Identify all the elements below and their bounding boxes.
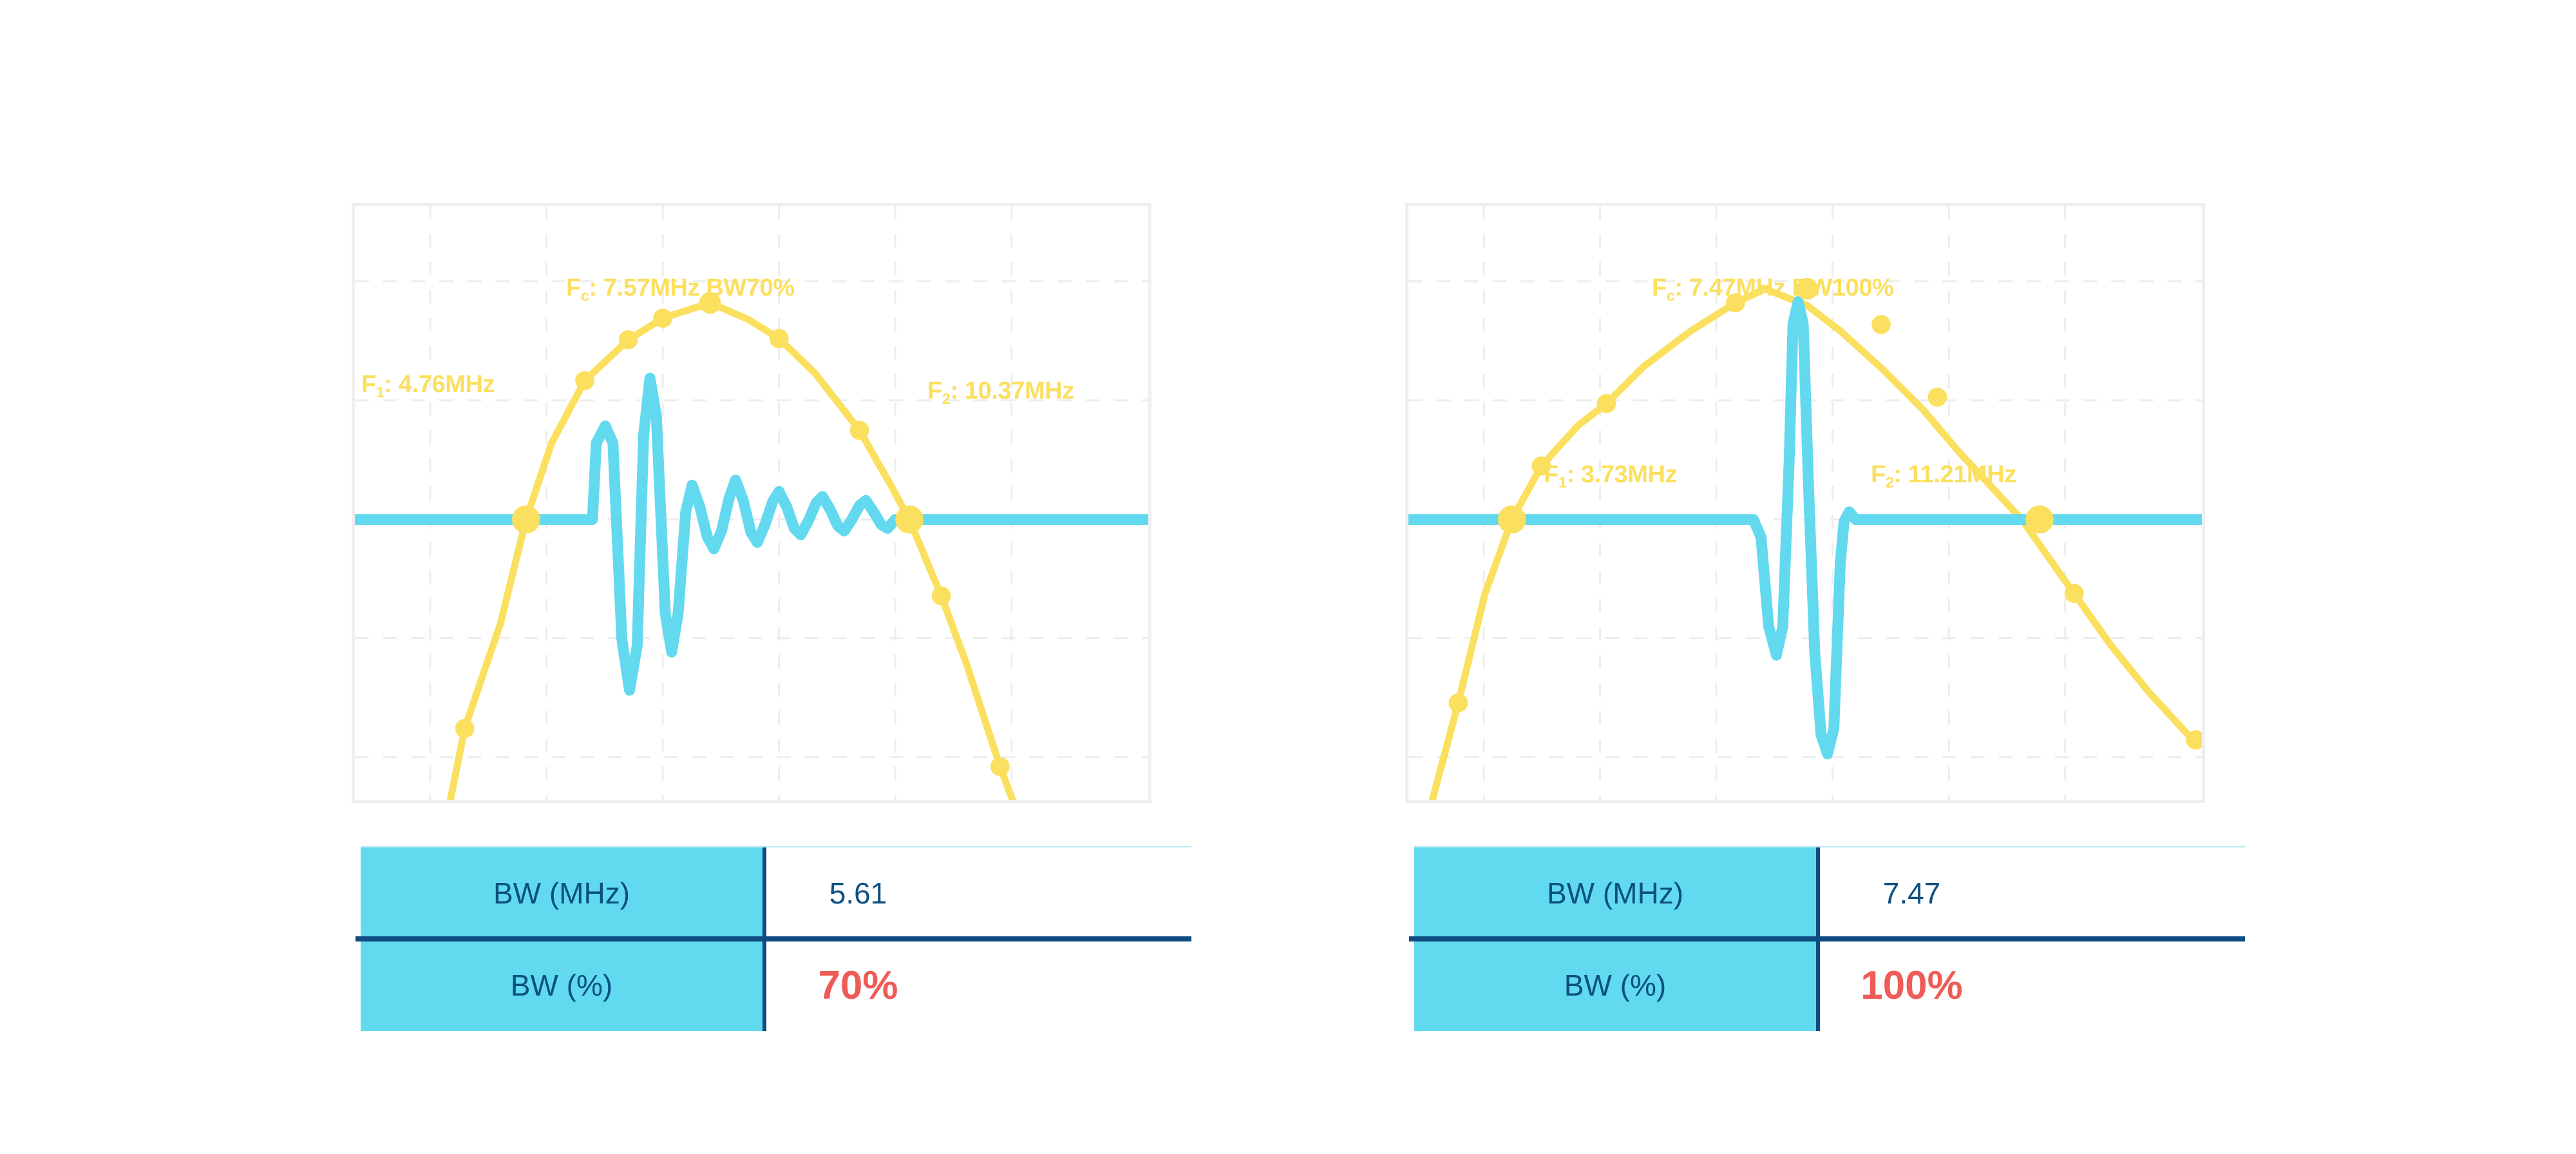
row-value-bw-percent: 70% (766, 940, 1201, 1031)
data-point-cutoff-low (512, 506, 540, 534)
data-point (455, 719, 475, 738)
row-label-bw-percent: BW (%) (1414, 940, 1820, 1031)
lower-cutoff-label-bw100: F1: 3.73MHz (1544, 462, 1677, 491)
spectrum-data-points-bw100 (1448, 278, 2202, 750)
time-domain-pulse-bw100 (1408, 301, 2202, 753)
time-domain-pulse-bw70 (355, 378, 1148, 690)
f2-symbol: F (927, 377, 942, 404)
data-point (653, 308, 672, 328)
f2-subscript: 2 (942, 390, 951, 407)
fc-subscript: c (1667, 287, 1675, 304)
bandwidth-results-table-bw70: BW (MHz) 5.61 BW (%) 70% (361, 847, 1201, 1031)
f2-value: : 10.37MHz (951, 377, 1074, 404)
table-row: BW (%) 70% (361, 940, 1201, 1031)
f2-symbol: F (1871, 461, 1886, 488)
table-middle-rule (355, 936, 1191, 941)
row-label-bw-mhz: BW (MHz) (1414, 847, 1820, 939)
f1-subscript: 1 (376, 384, 384, 401)
row-value-bw-mhz: 7.47 (1820, 847, 2255, 939)
f1-value: : 3.73MHz (1567, 461, 1678, 488)
row-value-bw-percent: 100% (1820, 940, 2255, 1031)
data-point (990, 757, 1010, 777)
data-point (1448, 694, 1468, 713)
data-point (1597, 394, 1616, 413)
data-point (575, 371, 594, 390)
fc-symbol: F (1652, 274, 1667, 301)
spectrum-plot-bw100: Fc: 7.47MHz BW100% F1: 3.73MHz F2: 11.21… (1405, 203, 2205, 803)
data-point (619, 330, 638, 350)
f1-subscript: 1 (1558, 474, 1567, 491)
data-point-cutoff-low (1498, 506, 1526, 534)
table-middle-rule (1409, 936, 2245, 941)
data-point (850, 421, 869, 440)
upper-cutoff-label-bw70: F2: 10.37MHz (927, 379, 1074, 407)
fc-value: : 7.57MHz BW70% (589, 274, 795, 301)
data-point-cutoff-high (895, 506, 923, 534)
data-point (2065, 584, 2084, 603)
table-row: BW (%) 100% (1414, 940, 2255, 1031)
row-label-bw-percent: BW (%) (361, 940, 766, 1031)
fc-symbol: F (566, 274, 581, 301)
f2-value: : 11.21MHz (1894, 461, 2016, 488)
fc-value: : 7.47MHz BW100% (1675, 274, 1894, 301)
screenshot-canvas: Fc: 7.57MHz BW70% F1: 4.76MHz F2: 10.37M… (0, 0, 2576, 1154)
f1-symbol: F (1544, 461, 1558, 488)
f2-subscript: 2 (1886, 474, 1894, 491)
data-point (932, 587, 951, 606)
f1-value: : 4.76MHz (384, 371, 495, 398)
data-point-cutoff-high (2025, 506, 2054, 534)
bandwidth-results-table-bw100: BW (MHz) 7.47 BW (%) 100% (1414, 847, 2255, 1031)
data-point (1927, 388, 1947, 407)
lower-cutoff-label-bw70: F1: 4.76MHz (361, 372, 495, 401)
f1-symbol: F (361, 371, 376, 398)
center-frequency-label-bw70: Fc: 7.57MHz BW70% (566, 276, 795, 304)
row-label-bw-mhz: BW (MHz) (361, 847, 766, 939)
center-frequency-label-bw100: Fc: 7.47MHz BW100% (1652, 276, 1893, 304)
measurement-panel-bw70: Fc: 7.57MHz BW70% F1: 4.76MHz F2: 10.37M… (348, 0, 1185, 1154)
row-value-bw-mhz: 5.61 (766, 847, 1201, 939)
measurement-panel-bw100: Fc: 7.47MHz BW100% F1: 3.73MHz F2: 11.21… (1401, 0, 2239, 1154)
data-point (1871, 315, 1891, 334)
spectrum-plot-bw70: Fc: 7.57MHz BW70% F1: 4.76MHz F2: 10.37M… (352, 203, 1151, 803)
fc-subscript: c (581, 287, 589, 304)
table-row: BW (MHz) 7.47 (1414, 847, 2255, 939)
data-point (770, 329, 789, 348)
upper-cutoff-label-bw100: F2: 11.21MHz (1871, 462, 2016, 491)
table-row: BW (MHz) 5.61 (361, 847, 1201, 939)
spectrum-data-points-bw70 (455, 292, 1010, 777)
